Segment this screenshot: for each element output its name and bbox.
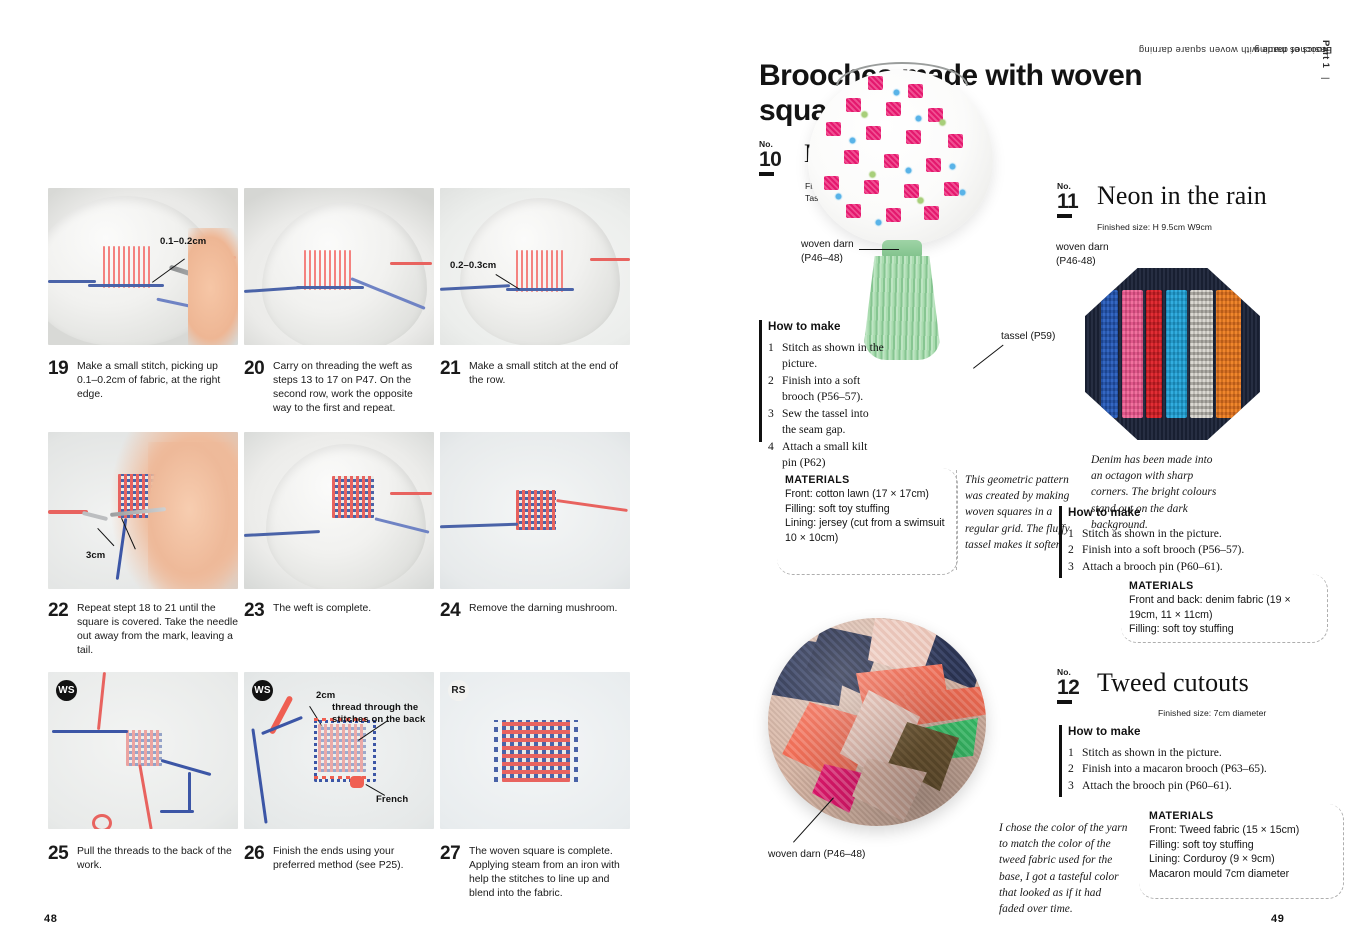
callout-step26-thread: thread through the stitches on the back <box>332 702 428 726</box>
step-text: Make a small stitch at the end of the ro… <box>469 358 630 417</box>
step-photo-23 <box>244 432 434 589</box>
step-number: 27 <box>440 843 462 902</box>
step-text: The woven square is complete. Applying s… <box>469 843 630 902</box>
howto-step: 1Stitch as shown in the picture. <box>1068 526 1289 542</box>
step-text: Pull the threads to the back of the work… <box>77 843 238 902</box>
howto-step: 1Stitch as shown in the picture. <box>1068 745 1289 761</box>
step-text: Make a small stitch, picking up 0.1–0.2c… <box>77 358 238 417</box>
step-number: 24 <box>440 600 462 659</box>
step-number: 19 <box>48 358 70 417</box>
callout-step19: 0.1–0.2cm <box>160 236 206 248</box>
no-rule <box>1057 214 1072 218</box>
project-11-number: No. 11 <box>1057 182 1078 218</box>
marie-brooch <box>808 70 993 245</box>
no-number: 12 <box>1057 677 1079 699</box>
caption-row-1: 19 Make a small stitch, picking up 0.1–0… <box>48 358 630 417</box>
label-woven-darn-12: woven darn (P46–48) <box>768 848 865 862</box>
badge-ws: WS <box>252 680 273 701</box>
project-11-title: Neon in the rain <box>1097 183 1267 209</box>
book-spread: 0.1–0.2cm <box>0 0 1346 946</box>
step-25: 25 Pull the threads to the back of the w… <box>48 843 238 902</box>
step-number: 20 <box>244 358 266 417</box>
howto-step: 3Sew the tassel into the seam gap. <box>768 406 884 439</box>
left-page: 0.1–0.2cm <box>0 0 673 946</box>
no-number: 11 <box>1057 191 1078 213</box>
step-19: 19 Make a small stitch, picking up 0.1–0… <box>48 358 238 417</box>
callout-step26-french: French <box>376 794 408 806</box>
howto-step: 3Attach the brooch pin (P60–61). <box>1068 778 1289 794</box>
step-photo-22: 3cm <box>48 432 238 589</box>
step-photo-26: WS 2cm French thread through the stitche… <box>244 672 434 829</box>
step-23: 23 The weft is complete. <box>244 600 434 659</box>
label-woven-darn-10: woven darn (P46–48) <box>801 238 854 266</box>
caption-row-3: 25 Pull the threads to the back of the w… <box>48 843 630 902</box>
photo-row-1: 0.1–0.2cm <box>48 188 630 345</box>
project-12-number: No. 12 <box>1057 668 1079 704</box>
project-12-title: Tweed cutouts <box>1097 670 1249 696</box>
photo-row-3: WS WS 2cm <box>48 672 630 829</box>
step-22: 22 Repeat stept 18 to 21 until the squar… <box>48 600 238 659</box>
running-head-tab: Part 1 Basics of darning | Brooches made… <box>1316 40 1338 420</box>
project-12-howto: How to make 1Stitch as shown in the pict… <box>1059 725 1289 794</box>
step-photo-27: RS <box>440 672 630 829</box>
step-text: The weft is complete. <box>273 600 371 659</box>
no-number: 10 <box>759 149 781 171</box>
project-10-number: No. 10 <box>759 140 781 176</box>
project-12-photo <box>768 618 986 826</box>
badge-rs: RS <box>448 680 469 701</box>
howto-step: 2Finish into a soft brooch (P56–57). <box>768 373 884 406</box>
howto-steps: 1Stitch as shown in the picture. 2Finish… <box>1059 526 1289 575</box>
photo-row-2: 3cm <box>48 432 630 589</box>
callout-step26-2cm: 2cm <box>316 690 335 702</box>
no-rule <box>1057 700 1072 704</box>
step-number: 21 <box>440 358 462 417</box>
caption-row-2: 22 Repeat stept 18 to 21 until the squar… <box>48 600 630 659</box>
howto-step: 2Finish into a macaron brooch (P63–65). <box>1068 761 1289 777</box>
step-27: 27 The woven square is complete. Applyin… <box>440 843 630 902</box>
project-11-howto: How to make 1Stitch as shown in the pict… <box>1059 506 1289 575</box>
step-number: 23 <box>244 600 266 659</box>
project-12-size: Finished size: 7cm diameter <box>1158 707 1266 719</box>
step-number: 26 <box>244 843 266 902</box>
badge-ws: WS <box>56 680 77 701</box>
step-24: 24 Remove the darning mushroom. <box>440 600 630 659</box>
project-10-howto: How to make 1Stitch as shown in the pict… <box>759 320 884 472</box>
step-21: 21 Make a small stitch at the end of the… <box>440 358 630 417</box>
howto-step: 4Attach a small kilt pin (P62) <box>768 439 884 472</box>
howto-step: 2Finish into a soft brooch (P56–57). <box>1068 542 1289 558</box>
howto-heading: How to make <box>1068 725 1289 738</box>
project-11-size: Finished size: H 9.5cm W9cm <box>1097 221 1212 233</box>
step-photo-21: 0.2–0.3cm <box>440 188 630 345</box>
step-text: Finish the ends using your preferred met… <box>273 843 434 902</box>
folio-right: 49 <box>1271 913 1284 925</box>
step-photo-24 <box>440 432 630 589</box>
label-tassel-10: tassel (P59) <box>1001 330 1055 344</box>
step-26: 26 Finish the ends using your preferred … <box>244 843 434 902</box>
step-photo-20 <box>244 188 434 345</box>
howto-steps: 1Stitch as shown in the picture. 2Finish… <box>759 340 884 472</box>
howto-steps: 1Stitch as shown in the picture. 2Finish… <box>1059 745 1289 794</box>
no-rule <box>759 172 774 176</box>
step-number: 22 <box>48 600 70 659</box>
running-head-section: Brooches made with woven square darning <box>1139 45 1332 56</box>
step-text: Carry on threading the weft as steps 13 … <box>273 358 434 417</box>
howto-step: 3Attach a brooch pin (P60–61). <box>1068 559 1289 575</box>
project-12-note: I chose the color of the yarn to match t… <box>999 820 1129 917</box>
step-text: Repeat stept 18 to 21 until the square i… <box>77 600 238 659</box>
step-photo-19: 0.1–0.2cm <box>48 188 238 345</box>
step-photo-25: WS <box>48 672 238 829</box>
step-20: 20 Carry on threading the weft as steps … <box>244 358 434 417</box>
label-woven-darn-11: woven darn (P46-48) <box>1056 241 1109 269</box>
step-number: 25 <box>48 843 70 902</box>
step-text: Remove the darning mushroom. <box>469 600 617 659</box>
callout-step22: 3cm <box>86 550 105 562</box>
folio-left: 48 <box>44 913 57 925</box>
running-head-text: Part 1 Basics of darning | Brooches made… <box>1321 40 1332 80</box>
callout-step21: 0.2–0.3cm <box>450 260 496 272</box>
howto-heading: How to make <box>1068 506 1289 519</box>
howto-step: 1Stitch as shown in the picture. <box>768 340 884 373</box>
howto-heading: How to make <box>768 320 884 333</box>
project-11-photo <box>1085 268 1260 440</box>
right-page: Brooches made with woven square darning … <box>673 0 1346 946</box>
